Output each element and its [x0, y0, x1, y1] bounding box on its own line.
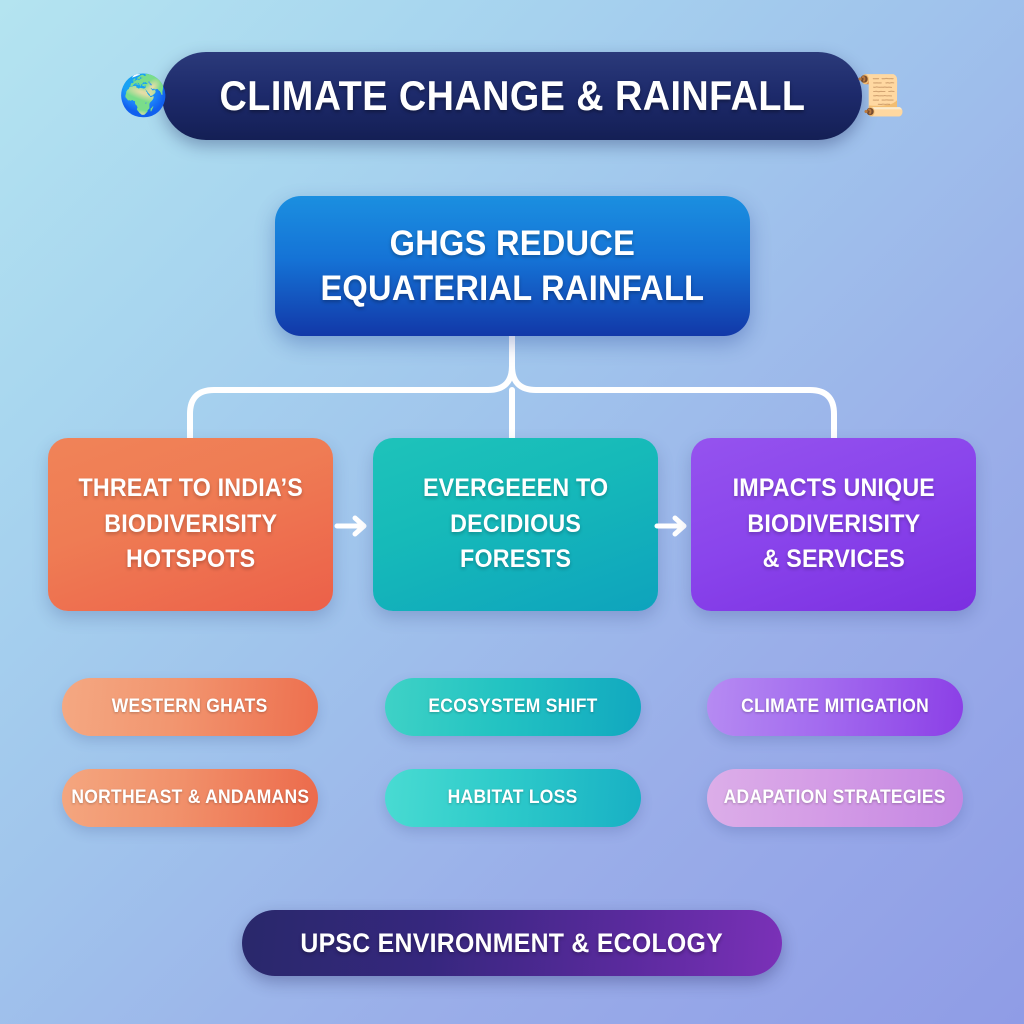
- sub-pill-label: HABITAT LOSS: [448, 787, 578, 809]
- header-title-bar: 🌍 CLIMATE CHANGE & RAINFALL 📜: [162, 52, 862, 140]
- main-node-line-2: EQUATERIAL RAINFALL: [321, 266, 705, 312]
- sub-pill-western-ghats[interactable]: WESTERN GHATS: [62, 678, 318, 736]
- infographic-canvas: 🌍 CLIMATE CHANGE & RAINFALL 📜 GHGS REDUC…: [0, 0, 1024, 1024]
- branch-box-text: THREAT TO INDIA’S BIODIVERISITY HOTSPOTS: [69, 471, 312, 578]
- main-node-text: GHGS REDUCE EQUATERIAL RAINFALL: [321, 221, 705, 312]
- branch-line-2: DECIDIOUS: [423, 507, 608, 543]
- globe-icon: 🌍: [119, 76, 169, 116]
- sub-pill-climate-mitigation[interactable]: CLIMATE MITIGATION: [707, 678, 963, 736]
- sub-pill-label: NORTHEAST & ANDAMANS: [71, 787, 309, 809]
- sub-pill-label: CLIMATE MITIGATION: [741, 696, 929, 718]
- branch-line-2: BIODIVERISITY: [732, 507, 934, 543]
- main-node[interactable]: GHGS REDUCE EQUATERIAL RAINFALL: [275, 196, 750, 336]
- branch-line-1: THREAT TO INDIA’S: [78, 471, 302, 507]
- sub-pill-ecosystem-shift[interactable]: ECOSYSTEM SHIFT: [385, 678, 641, 736]
- branch-line-3: & SERVICES: [732, 542, 934, 578]
- branch-line-3: FORESTS: [423, 542, 608, 578]
- footer-bar: UPSC ENVIRONMENT & ECOLOGY: [242, 910, 782, 976]
- branch-line-1: IMPACTS UNIQUE: [732, 471, 934, 507]
- branch-box-threat-biodiversity-hotspots[interactable]: THREAT TO INDIA’S BIODIVERISITY HOTSPOTS: [48, 438, 333, 611]
- sub-pill-label: ADAPATION STRATEGIES: [724, 787, 946, 809]
- sub-pill-adapation-strategies[interactable]: ADAPATION STRATEGIES: [707, 769, 963, 827]
- branch-line-2: BIODIVERISITY: [78, 507, 302, 543]
- branch-box-text: IMPACTS UNIQUE BIODIVERISITY & SERVICES: [723, 471, 944, 578]
- right-arrow-icon: [653, 510, 695, 542]
- footer-label: UPSC ENVIRONMENT & ECOLOGY: [301, 928, 724, 959]
- sub-pill-label: WESTERN GHATS: [112, 696, 268, 718]
- page-title: CLIMATE CHANGE & RAINFALL: [219, 72, 805, 120]
- sub-pill-habitat-loss[interactable]: HABITAT LOSS: [385, 769, 641, 827]
- sub-pill-label: ECOSYSTEM SHIFT: [428, 696, 597, 718]
- branch-line-3: HOTSPOTS: [78, 542, 302, 578]
- sub-pill-northeast-andamans[interactable]: NORTHEAST & ANDAMANS: [62, 769, 318, 827]
- branch-box-evergreen-to-deciduous[interactable]: EVERGEEEN TO DECIDIOUS FORESTS: [373, 438, 658, 611]
- branch-line-1: EVERGEEEN TO: [423, 471, 608, 507]
- main-node-line-1: GHGS REDUCE: [321, 221, 705, 267]
- branch-box-text: EVERGEEEN TO DECIDIOUS FORESTS: [414, 471, 618, 578]
- right-arrow-icon: [333, 510, 375, 542]
- scroll-icon: 📜: [856, 76, 906, 116]
- branch-box-impacts-unique-biodiversity[interactable]: IMPACTS UNIQUE BIODIVERISITY & SERVICES: [691, 438, 976, 611]
